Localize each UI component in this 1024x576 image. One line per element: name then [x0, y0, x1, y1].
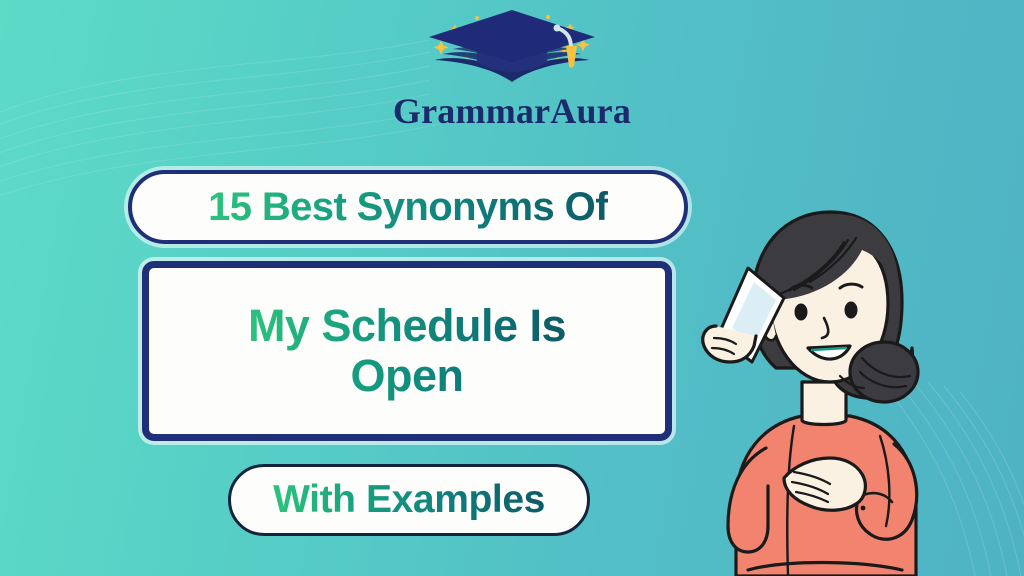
main-title-box: My Schedule Is Open	[142, 261, 672, 441]
main-title-line-2: Open	[350, 350, 463, 401]
main-title-text: My Schedule Is Open	[248, 301, 566, 402]
main-title-line-1: My Schedule Is	[248, 300, 566, 351]
brand-logo: GrammarAura	[0, 4, 1024, 129]
bottom-headline-text: With Examples	[273, 478, 545, 522]
thumbnail-canvas: GrammarAura 15 Best Synonyms Of My Sched…	[0, 0, 1024, 576]
top-headline-pill: 15 Best Synonyms Of	[128, 170, 688, 244]
brand-name: GrammarAura	[393, 93, 631, 129]
woman-on-phone-illustration	[644, 186, 974, 576]
bottom-headline-pill: With Examples	[228, 464, 590, 536]
graduation-cap-book-icon	[417, 4, 607, 92]
top-headline-text: 15 Best Synonyms Of	[208, 185, 608, 230]
